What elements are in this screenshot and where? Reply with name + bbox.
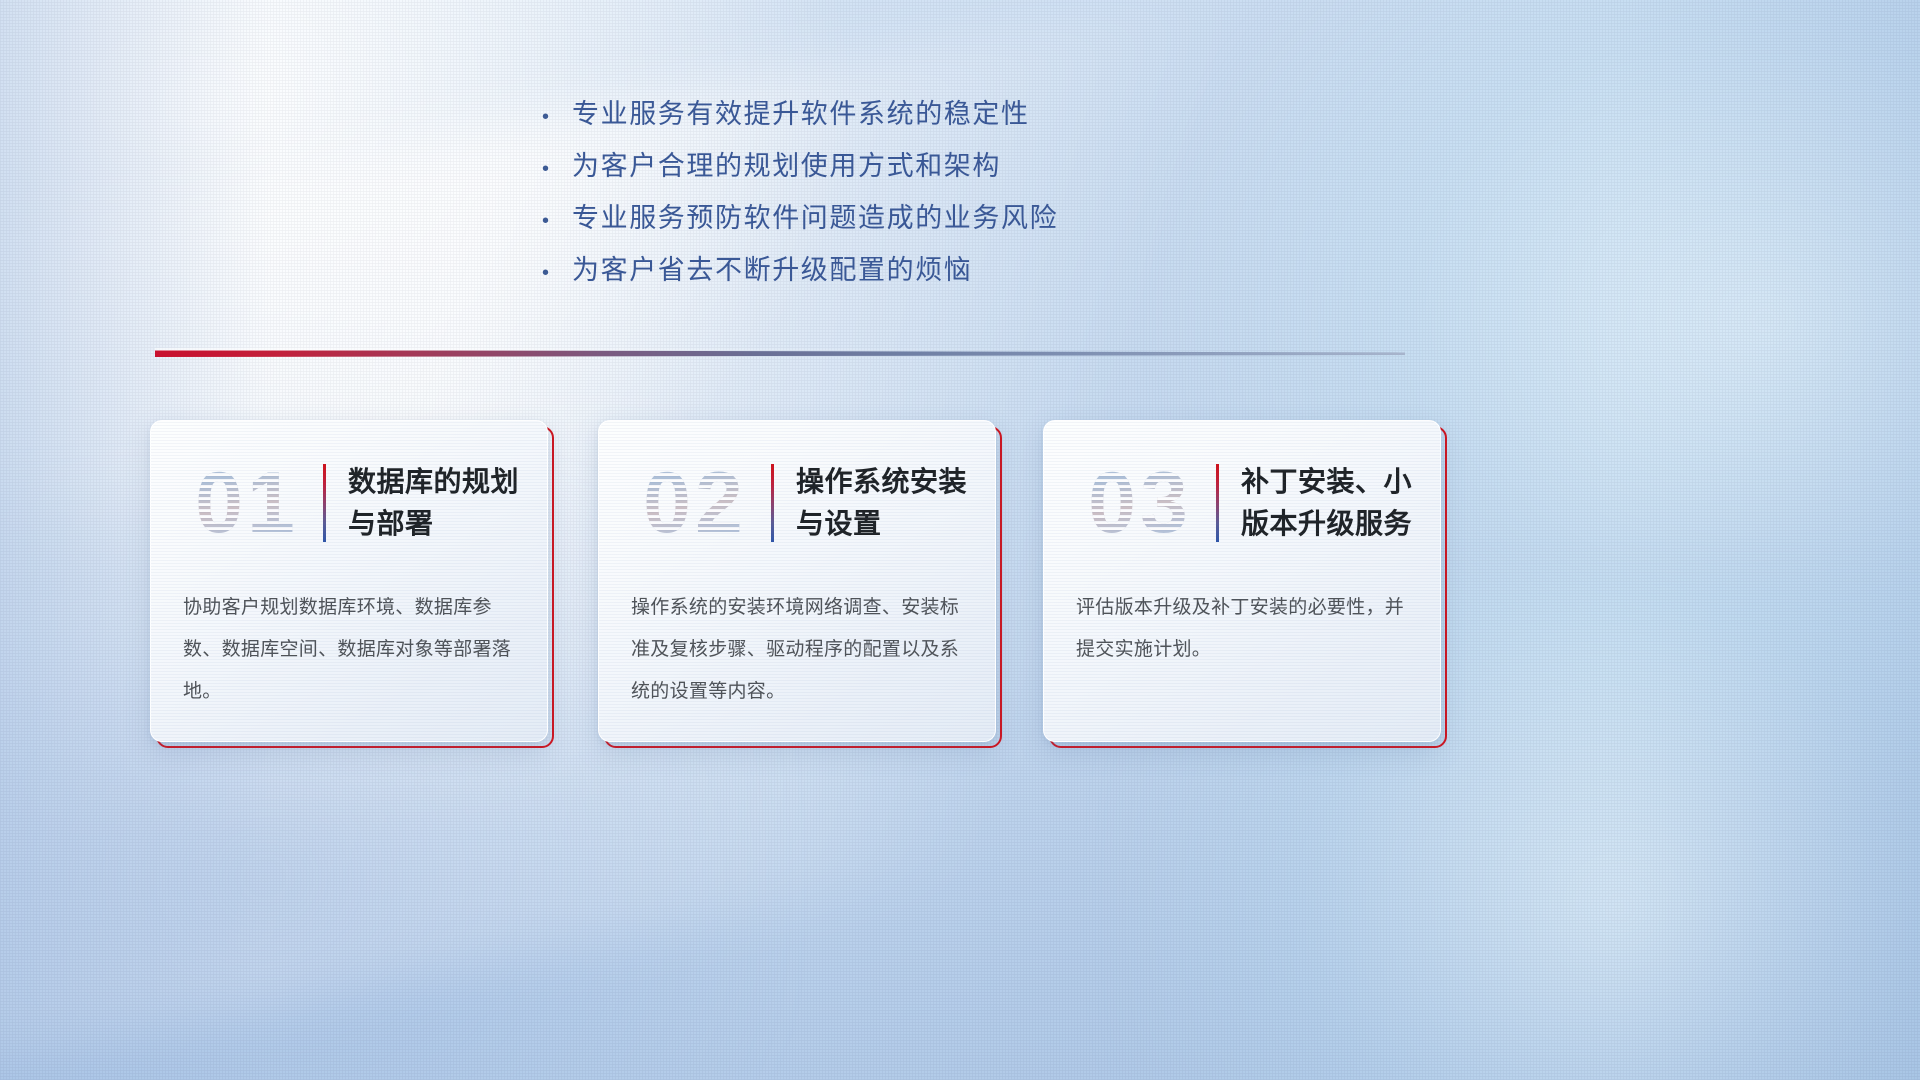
card-title-line-1: 数据库的规划 (348, 461, 519, 503)
card-header: 02 操作系统安装 与设置 (599, 443, 995, 563)
card-body-text: 操作系统的安装环境网络调查、安装标准及复核步骤、驱动程序的配置以及系统的设置等内… (631, 587, 969, 713)
benefits-bullet-list: • 专业服务有效提升软件系统的稳定性 • 为客户合理的规划使用方式和架构 • 专… (536, 92, 1436, 300)
bullet-item-4: • 为客户省去不断升级配置的烦恼 (536, 248, 1436, 300)
card-surface: 02 操作系统安装 与设置 操作系统的安装环境网络调查、安装标准及复核步骤、驱动… (598, 420, 996, 742)
service-cards: 01 数据库的规划 与部署 协助客户规划数据库环境、数据库参数、数据库空间、数据… (150, 420, 1770, 750)
card-surface: 03 补丁安装、小 版本升级服务 评估版本升级及补丁安装的必要性，并提交实施计划… (1043, 420, 1441, 742)
service-card-3[interactable]: 03 补丁安装、小 版本升级服务 评估版本升级及补丁安装的必要性，并提交实施计划… (1043, 420, 1441, 742)
card-number-watermark: 02 (621, 443, 769, 563)
bullet-item-label: 为客户合理的规划使用方式和架构 (572, 144, 1001, 183)
card-number-watermark: 03 (1066, 443, 1214, 563)
bullet-item-1: • 专业服务有效提升软件系统的稳定性 (536, 92, 1436, 144)
card-title-line-1: 操作系统安装 (796, 461, 967, 503)
divider-highlight (155, 348, 1405, 351)
card-title-line-2: 与设置 (796, 503, 967, 545)
card-surface: 01 数据库的规划 与部署 协助客户规划数据库环境、数据库参数、数据库空间、数据… (150, 420, 548, 742)
bullet-item-label: 专业服务预防软件问题造成的业务风险 (572, 196, 1058, 235)
card-header: 01 数据库的规划 与部署 (151, 443, 547, 563)
bullet-dot-icon: • (536, 263, 572, 283)
card-number-watermark: 01 (173, 443, 321, 563)
card-title-line-2: 与部署 (348, 503, 519, 545)
card-title: 补丁安装、小 版本升级服务 (1241, 461, 1412, 545)
card-header: 03 补丁安装、小 版本升级服务 (1044, 443, 1440, 563)
service-card-2[interactable]: 02 操作系统安装 与设置 操作系统的安装环境网络调查、安装标准及复核步骤、驱动… (598, 420, 996, 742)
bullet-item-2: • 为客户合理的规划使用方式和架构 (536, 144, 1436, 196)
card-title: 数据库的规划 与部署 (348, 461, 519, 545)
service-card-1[interactable]: 01 数据库的规划 与部署 协助客户规划数据库环境、数据库参数、数据库空间、数据… (150, 420, 548, 742)
divider-gradient-bar (155, 350, 1405, 357)
card-body-text: 评估版本升级及补丁安装的必要性，并提交实施计划。 (1076, 587, 1414, 671)
bullet-item-label: 为客户省去不断升级配置的烦恼 (572, 248, 972, 287)
bullet-dot-icon: • (536, 159, 572, 179)
card-divider-bar (323, 464, 326, 542)
card-divider-bar (1216, 464, 1219, 542)
bullet-dot-icon: • (536, 211, 572, 231)
card-title-line-2: 版本升级服务 (1241, 503, 1412, 545)
bullet-item-label: 专业服务有效提升软件系统的稳定性 (572, 92, 1030, 131)
bullet-item-3: • 专业服务预防软件问题造成的业务风险 (536, 196, 1436, 248)
card-title-line-1: 补丁安装、小 (1241, 461, 1412, 503)
card-title: 操作系统安装 与设置 (796, 461, 967, 545)
section-divider (155, 344, 1405, 366)
card-divider-bar (771, 464, 774, 542)
bullet-dot-icon: • (536, 107, 572, 127)
card-body-text: 协助客户规划数据库环境、数据库参数、数据库空间、数据库对象等部署落地。 (183, 587, 521, 713)
